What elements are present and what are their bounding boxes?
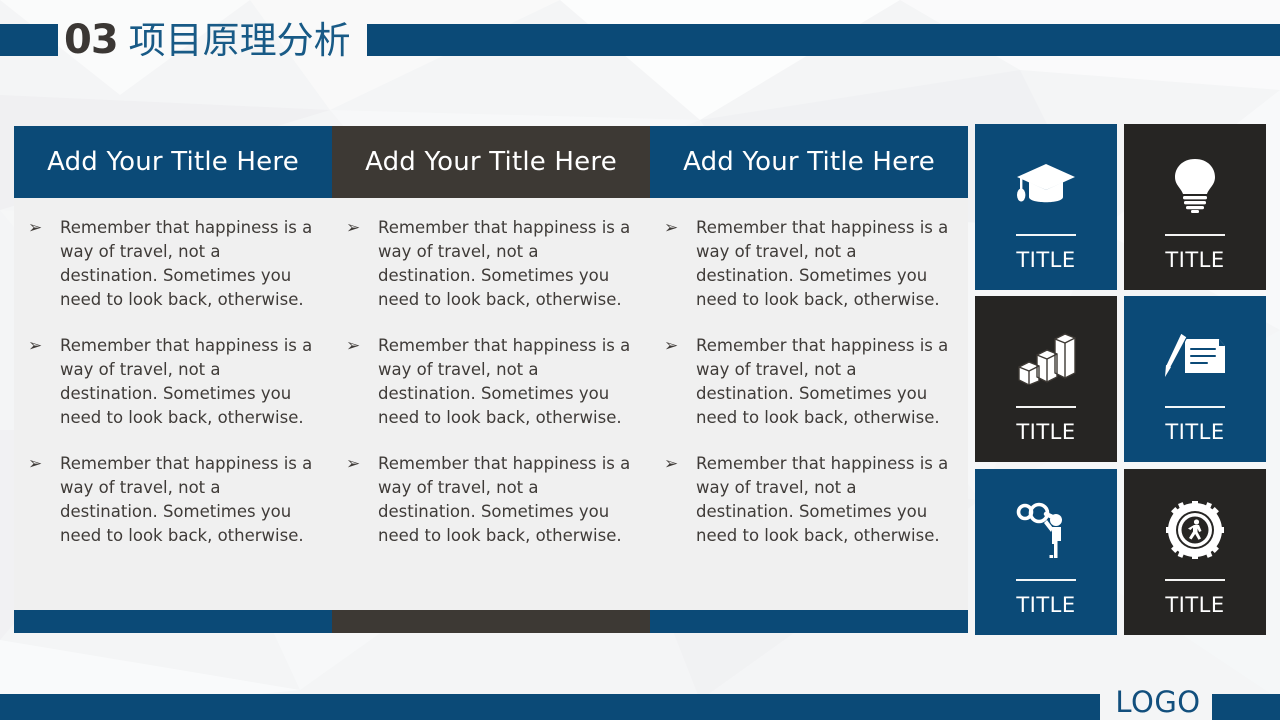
slide-footer: LOGO <box>0 694 1280 720</box>
pen-document-icon <box>1163 326 1227 388</box>
content-card-2[interactable]: Add Your Title Here ➢ Remember that happ… <box>332 126 650 633</box>
card-3-body: ➢ Remember that happiness is a way of tr… <box>650 198 968 610</box>
list-item-text: Remember that happiness is a way of trav… <box>696 334 952 430</box>
list-item-text: Remember that happiness is a way of trav… <box>60 452 316 548</box>
card-2-title: Add Your Title Here <box>365 147 617 177</box>
list-item-text: Remember that happiness is a way of trav… <box>378 334 634 430</box>
card-3-footer-bar <box>650 610 968 633</box>
person-binoculars-icon <box>1016 499 1076 561</box>
icon-tile-bar-chart[interactable]: TITLE <box>975 296 1117 462</box>
lightbulb-icon <box>1169 154 1221 216</box>
list-item-text: Remember that happiness is a way of trav… <box>378 452 634 548</box>
card-1-body: ➢ Remember that happiness is a way of tr… <box>14 198 332 610</box>
bullet-arrow-icon: ➢ <box>28 452 60 548</box>
list-item: ➢ Remember that happiness is a way of tr… <box>346 216 634 312</box>
list-item: ➢ Remember that happiness is a way of tr… <box>346 452 634 548</box>
content-card-1[interactable]: Add Your Title Here ➢ Remember that happ… <box>14 126 332 633</box>
tile-divider <box>1165 406 1225 408</box>
logo: LOGO <box>1110 685 1206 719</box>
header-text-group: 03 项目原理分析 <box>64 12 351 68</box>
list-item: ➢ Remember that happiness is a way of tr… <box>664 216 952 312</box>
list-item: ➢ Remember that happiness is a way of tr… <box>28 334 316 430</box>
icon-tile-pen-document[interactable]: TITLE <box>1124 296 1266 462</box>
bullet-arrow-icon: ➢ <box>28 334 60 430</box>
list-item: ➢ Remember that happiness is a way of tr… <box>28 452 316 548</box>
bullet-arrow-icon: ➢ <box>28 216 60 312</box>
bullet-arrow-icon: ➢ <box>346 216 378 312</box>
bullet-arrow-icon: ➢ <box>664 216 696 312</box>
card-3-header: Add Your Title Here <box>650 126 968 198</box>
bullet-arrow-icon: ➢ <box>664 334 696 430</box>
section-number: 03 <box>64 20 118 60</box>
bullet-arrow-icon: ➢ <box>346 334 378 430</box>
tile-label: TITLE <box>1016 248 1075 272</box>
header-bar-left <box>0 24 58 56</box>
tile-label: TITLE <box>1165 248 1224 272</box>
list-item-text: Remember that happiness is a way of trav… <box>60 334 316 430</box>
gear-person-icon <box>1166 499 1224 561</box>
tile-label: TITLE <box>1165 593 1224 617</box>
list-item-text: Remember that happiness is a way of trav… <box>696 452 952 548</box>
icon-tile-lightbulb[interactable]: TITLE <box>1124 124 1266 290</box>
page-title: 项目原理分析 <box>129 22 351 59</box>
footer-bar-left <box>0 694 1100 720</box>
card-3-title: Add Your Title Here <box>683 147 935 177</box>
card-2-body: ➢ Remember that happiness is a way of tr… <box>332 198 650 610</box>
list-item-text: Remember that happiness is a way of trav… <box>696 216 952 312</box>
list-item: ➢ Remember that happiness is a way of tr… <box>28 216 316 312</box>
card-1-header: Add Your Title Here <box>14 126 332 198</box>
card-1-title: Add Your Title Here <box>47 147 299 177</box>
bullet-arrow-icon: ➢ <box>346 452 378 548</box>
tile-divider <box>1165 579 1225 581</box>
slide-header: 03 项目原理分析 <box>0 24 1280 56</box>
list-item: ➢ Remember that happiness is a way of tr… <box>664 452 952 548</box>
content-card-3[interactable]: Add Your Title Here ➢ Remember that happ… <box>650 126 968 633</box>
tile-divider <box>1165 234 1225 236</box>
graduation-cap-icon <box>1015 154 1077 216</box>
list-item-text: Remember that happiness is a way of trav… <box>60 216 316 312</box>
tile-label: TITLE <box>1016 593 1075 617</box>
bar-chart-3d-icon <box>1015 326 1077 388</box>
header-bar-right <box>367 24 1280 56</box>
tile-label: TITLE <box>1165 420 1224 444</box>
list-item-text: Remember that happiness is a way of trav… <box>378 216 634 312</box>
card-2-header: Add Your Title Here <box>332 126 650 198</box>
tile-divider <box>1016 234 1076 236</box>
list-item: ➢ Remember that happiness is a way of tr… <box>346 334 634 430</box>
tile-divider <box>1016 406 1076 408</box>
card-2-footer-bar <box>332 610 650 633</box>
bullet-arrow-icon: ➢ <box>664 452 696 548</box>
tile-label: TITLE <box>1016 420 1075 444</box>
icon-tile-gear-person[interactable]: TITLE <box>1124 469 1266 635</box>
tile-divider <box>1016 579 1076 581</box>
icon-tile-graduation-cap[interactable]: TITLE <box>975 124 1117 290</box>
icon-tile-person-binoculars[interactable]: TITLE <box>975 469 1117 635</box>
card-1-footer-bar <box>14 610 332 633</box>
list-item: ➢ Remember that happiness is a way of tr… <box>664 334 952 430</box>
footer-bar-right <box>1212 694 1280 720</box>
